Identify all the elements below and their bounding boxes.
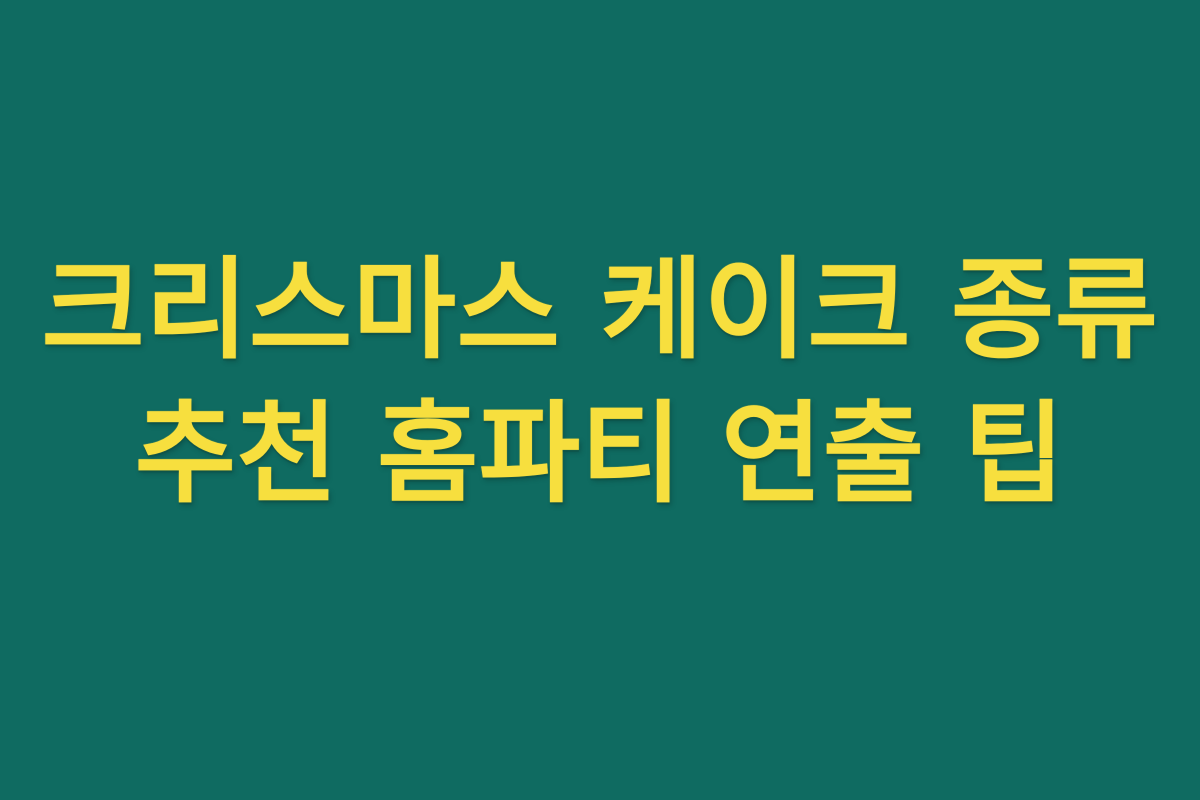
thumbnail-canvas: 크리스마스 케이크 종류 추천 홈파티 연출 팁 <box>0 0 1200 800</box>
title-line-2: 추천 홈파티 연출 팁 <box>0 399 1200 509</box>
title-block: 크리스마스 케이크 종류 추천 홈파티 연출 팁 <box>0 255 1200 509</box>
title-line-1: 크리스마스 케이크 종류 <box>0 255 1200 365</box>
